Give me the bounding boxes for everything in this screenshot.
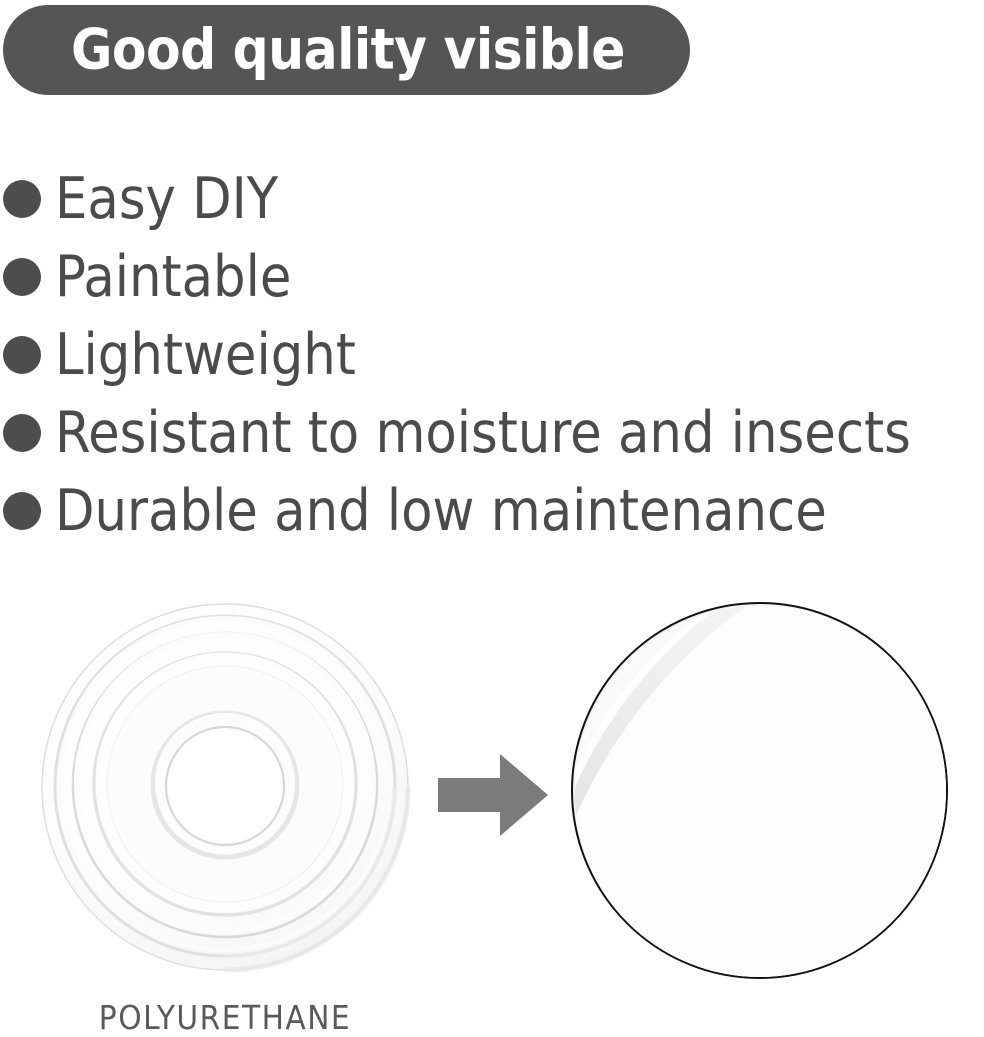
ceiling-medallion-image — [38, 598, 412, 972]
feature-list: Easy DIY Paintable Lightweight Resistant… — [0, 160, 984, 550]
bullet-dot-icon — [3, 492, 41, 530]
feature-label: Paintable — [55, 247, 291, 307]
bullet-dot-icon — [3, 414, 41, 452]
feature-label: Easy DIY — [55, 169, 278, 229]
right-arrow-icon — [438, 752, 548, 838]
medallion-figure: POLYURETHANE — [38, 598, 412, 972]
list-item: Paintable — [0, 238, 984, 316]
list-item: Resistant to moisture and insects — [0, 394, 984, 472]
list-item: Easy DIY — [0, 160, 984, 238]
list-item: Durable and low maintenance — [0, 472, 984, 550]
page-title: Good quality visible — [71, 18, 625, 83]
feature-label: Lightweight — [55, 325, 356, 385]
product-comparison: POLYURETHANE — [0, 580, 984, 1024]
feature-label: Resistant to moisture and insects — [55, 403, 911, 463]
magnified-detail-figure — [571, 602, 948, 979]
list-item: Lightweight — [0, 316, 984, 394]
magnified-surface-detail — [571, 602, 948, 979]
feature-label: Durable and low maintenance — [55, 481, 827, 541]
bullet-dot-icon — [3, 258, 41, 296]
bullet-dot-icon — [3, 336, 41, 374]
bullet-dot-icon — [3, 180, 41, 218]
material-caption: POLYURETHANE — [38, 998, 412, 1037]
header-banner: Good quality visible — [3, 5, 690, 95]
surface-profile-illustration — [573, 604, 948, 979]
